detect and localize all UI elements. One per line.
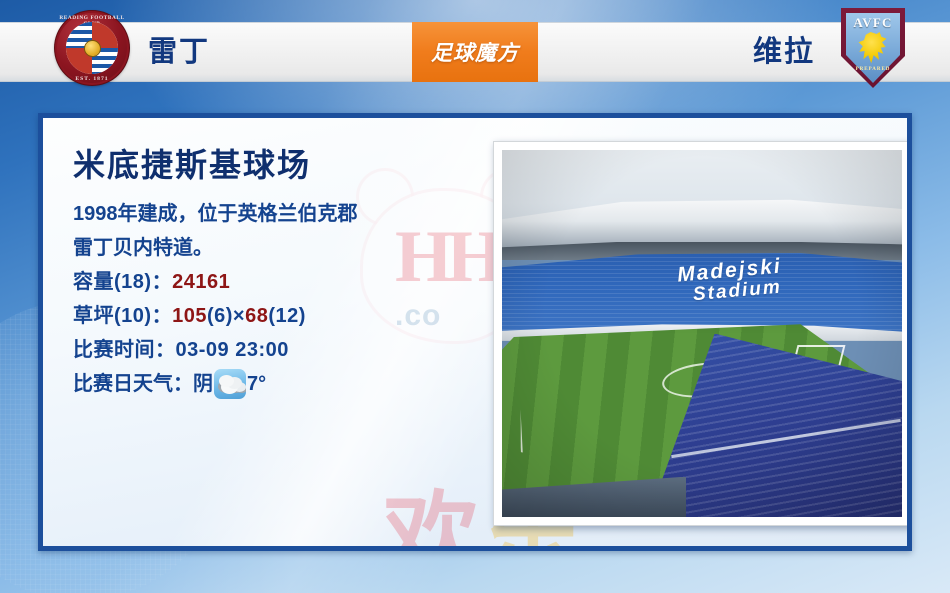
aston-villa-crest: AVFC PREPARED <box>841 8 905 88</box>
weather-label: 比赛日天气： <box>73 367 193 401</box>
stadium-info-card: READING FOOTBALL CLUB EST. 1871 雷丁 足球魔方 … <box>0 0 950 593</box>
pitch-width-value: 68 <box>245 305 268 327</box>
pitch-row: 草坪(10)：105(6)×68(12) <box>73 299 493 333</box>
villa-initials: AVFC <box>841 15 905 31</box>
cloudy-icon <box>214 369 246 399</box>
stadium-photo-frame[interactable]: Madejski Stadium <box>493 141 911 526</box>
home-team-name: 雷丁 <box>148 28 210 76</box>
crest-ball-icon <box>85 41 100 56</box>
match-time-row: 比赛时间：03-09 23:00 <box>73 333 493 367</box>
weather-condition: 阴 <box>193 367 213 401</box>
away-team-name: 维拉 <box>753 28 815 76</box>
photo-far-stand <box>502 253 902 334</box>
content-panel: HH .co 欢乐 米底捷斯基球场 1998年建成，位于英格兰伯克郡 雷丁贝内特… <box>38 113 912 551</box>
capacity-row: 容量(18)：24161 <box>73 265 493 299</box>
pitch-multiply-sign: × <box>233 305 245 327</box>
brand-logo-text: 足球魔方 <box>431 37 519 67</box>
pitch-width-rank: (12) <box>268 305 306 327</box>
match-time-value: 03-09 23:00 <box>176 339 289 361</box>
stadium-photo: Madejski Stadium <box>502 150 902 517</box>
pitch-length-value: 105 <box>172 305 207 327</box>
pitch-length-rank: (6) <box>207 305 233 327</box>
reading-fc-crest: READING FOOTBALL CLUB EST. 1871 <box>55 11 129 85</box>
stadium-description-line-1: 1998年建成，位于英格兰伯克郡 <box>73 197 493 231</box>
crest-arc-bottom-text: EST. 1871 <box>55 76 129 82</box>
watermark-han-first: 欢 <box>383 484 483 551</box>
capacity-label: 容量(18)： <box>73 271 172 293</box>
crest-inner-shield <box>66 22 118 74</box>
stadium-info-block: 米底捷斯基球场 1998年建成，位于英格兰伯克郡 雷丁贝内特道。 容量(18)：… <box>73 143 493 401</box>
match-time-label: 比赛时间： <box>73 339 176 361</box>
pitch-label: 草坪(10)： <box>73 305 172 327</box>
weather-row: 比赛日天气：阴 7° <box>73 367 493 401</box>
stadium-title: 米底捷斯基球场 <box>73 143 493 187</box>
capacity-value: 24161 <box>172 271 230 293</box>
stadium-description-line-2: 雷丁贝内特道。 <box>73 231 493 265</box>
villa-motto: PREPARED <box>841 67 905 72</box>
brand-logo[interactable]: 足球魔方 <box>412 22 538 82</box>
temperature-value: 7° <box>247 367 266 401</box>
cloud-front-shape <box>219 375 234 387</box>
